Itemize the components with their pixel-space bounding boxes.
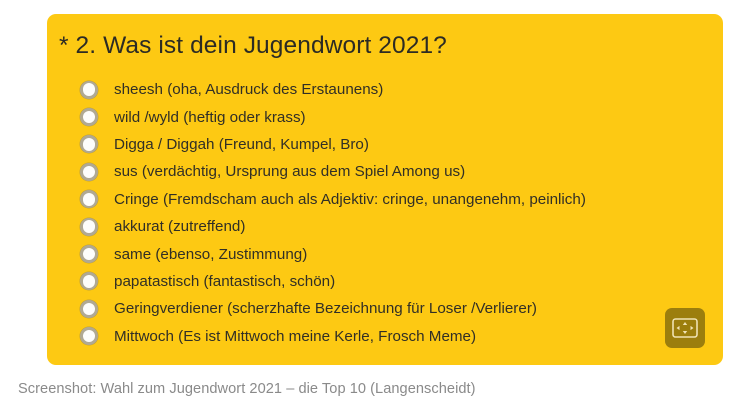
radio-button-icon[interactable] [80, 218, 98, 236]
radio-option-label: Mittwoch (Es ist Mittwoch meine Kerle, F… [114, 327, 476, 346]
radio-button-icon[interactable] [80, 272, 98, 290]
radio-option-label: akkurat (zutreffend) [114, 217, 245, 236]
radio-option-wild-wyld[interactable]: wild /wyld (heftig oder krass) [59, 103, 715, 130]
radio-option-label: same (ebenso, Zustimmung) [114, 245, 307, 264]
radio-option-papatastisch[interactable]: papatastisch (fantastisch, schön) [59, 268, 715, 295]
radio-option-label: wild /wyld (heftig oder krass) [114, 108, 306, 127]
radio-option-akkurat[interactable]: akkurat (zutreffend) [59, 213, 715, 240]
expand-fullscreen-icon [672, 318, 698, 338]
radio-button-icon[interactable] [80, 81, 98, 99]
image-caption: Screenshot: Wahl zum Jugendwort 2021 – d… [18, 379, 476, 399]
page-title: * 2. Was ist dein Jugendwort 2021? [59, 31, 447, 61]
radio-option-label: Cringe (Fremdscham auch als Adjektiv: cr… [114, 190, 586, 209]
radio-option-cringe[interactable]: Cringe (Fremdscham auch als Adjektiv: cr… [59, 186, 715, 213]
radio-option-mittwoch[interactable]: Mittwoch (Es ist Mittwoch meine Kerle, F… [59, 323, 715, 350]
radio-option-sheesh[interactable]: sheesh (oha, Ausdruck des Erstaunens) [59, 76, 715, 103]
radio-option-geringverdiener[interactable]: Geringverdiener (scherzhafte Bezeichnung… [59, 295, 715, 322]
radio-option-same[interactable]: same (ebenso, Zustimmung) [59, 240, 715, 267]
radio-button-icon[interactable] [80, 327, 98, 345]
radio-button-icon[interactable] [80, 108, 98, 126]
survey-question-card: * 2. Was ist dein Jugendwort 2021? shees… [47, 14, 723, 365]
radio-option-digga-diggah[interactable]: Digga / Diggah (Freund, Kumpel, Bro) [59, 131, 715, 158]
radio-option-label: Geringverdiener (scherzhafte Bezeichnung… [114, 299, 537, 318]
radio-button-icon[interactable] [80, 135, 98, 153]
expand-fullscreen-button[interactable] [665, 308, 705, 348]
page-root: * 2. Was ist dein Jugendwort 2021? shees… [0, 0, 745, 418]
radio-button-icon[interactable] [80, 300, 98, 318]
radio-option-sus[interactable]: sus (verdächtig, Ursprung aus dem Spiel … [59, 158, 715, 185]
radio-option-label: Digga / Diggah (Freund, Kumpel, Bro) [114, 135, 369, 154]
radio-option-label: sheesh (oha, Ausdruck des Erstaunens) [114, 80, 383, 99]
radio-button-icon[interactable] [80, 245, 98, 263]
radio-option-label: sus (verdächtig, Ursprung aus dem Spiel … [114, 162, 465, 181]
radio-button-icon[interactable] [80, 190, 98, 208]
radio-option-label: papatastisch (fantastisch, schön) [114, 272, 335, 291]
radio-option-group: sheesh (oha, Ausdruck des Erstaunens) wi… [59, 76, 715, 350]
radio-button-icon[interactable] [80, 163, 98, 181]
